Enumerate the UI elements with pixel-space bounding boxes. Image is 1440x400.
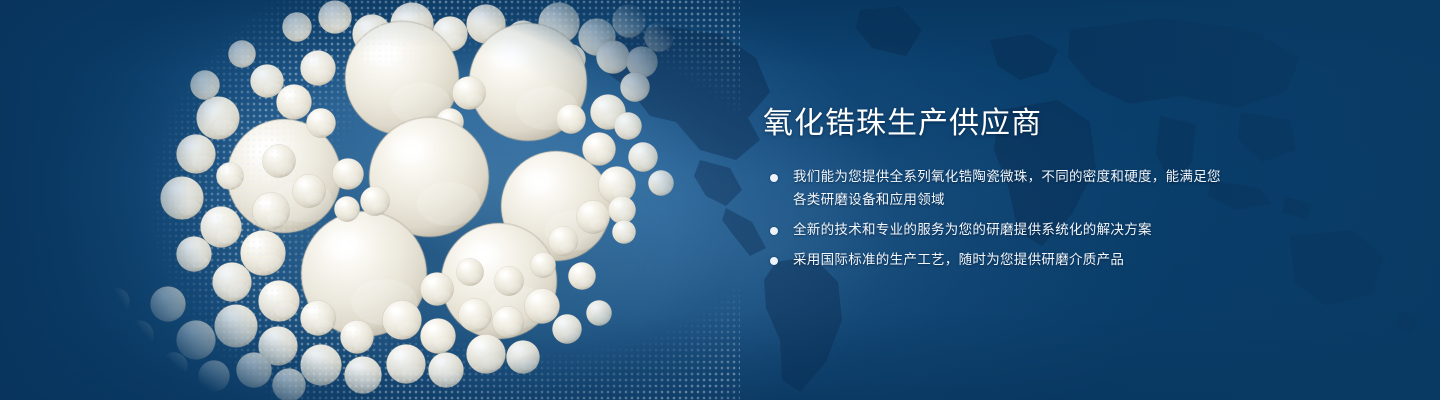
bullet-dot-icon xyxy=(770,174,778,182)
banner-bullet-item: 全新的技术和专业的服务为您的研磨提供系统化的解决方案 xyxy=(763,219,1233,242)
banner-bullet-item: 采用国际标准的生产工艺，随时为您提供研磨介质产品 xyxy=(763,249,1233,272)
zirconia-beads-photo xyxy=(0,0,780,400)
bullet-dot-icon xyxy=(770,257,778,265)
banner-bullet-list: 我们能为您提供全系列氧化锆陶瓷微珠，不同的密度和硬度，能满足您各类研磨设备和应用… xyxy=(763,166,1233,272)
banner-headline: 氧化锆珠生产供应商 xyxy=(763,104,1233,144)
banner-copy: 氧化锆珠生产供应商 我们能为您提供全系列氧化锆陶瓷微珠，不同的密度和硬度，能满足… xyxy=(763,104,1233,272)
bullet-text: 采用国际标准的生产工艺，随时为您提供研磨介质产品 xyxy=(793,252,1124,268)
banner-bullet-item: 我们能为您提供全系列氧化锆陶瓷微珠，不同的密度和硬度，能满足您各类研磨设备和应用… xyxy=(763,166,1233,212)
bullet-dot-icon xyxy=(770,227,778,235)
bullet-text: 我们能为您提供全系列氧化锆陶瓷微珠，不同的密度和硬度，能满足您各类研磨设备和应用… xyxy=(793,169,1221,208)
bullet-text: 全新的技术和专业的服务为您的研磨提供系统化的解决方案 xyxy=(793,222,1152,238)
hero-banner: 氧化锆珠生产供应商 我们能为您提供全系列氧化锆陶瓷微珠，不同的密度和硬度，能满足… xyxy=(0,0,1440,400)
